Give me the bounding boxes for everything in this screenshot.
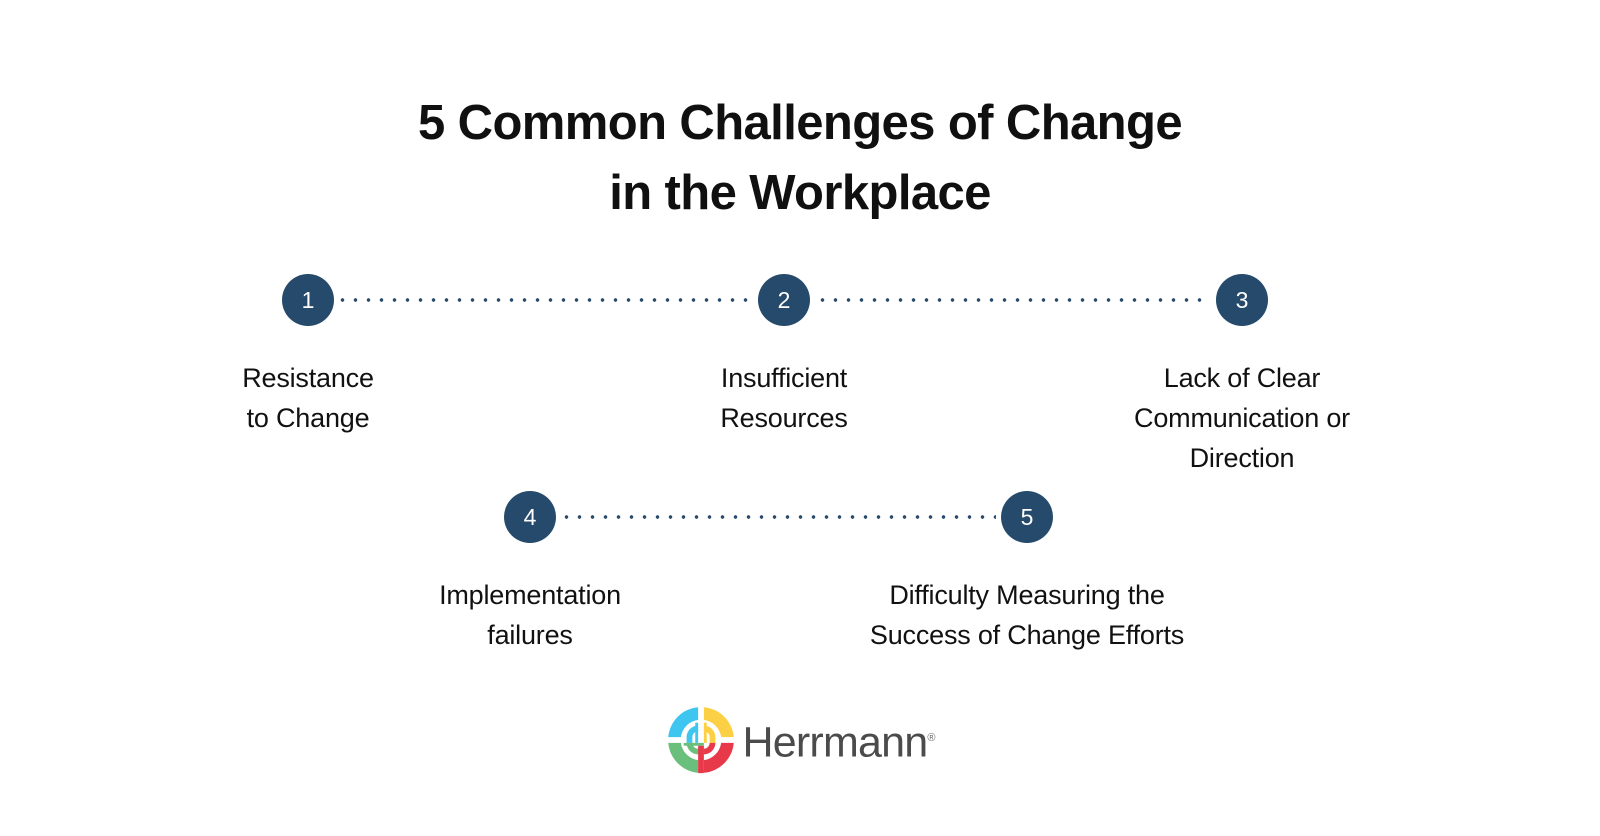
timeline-label-2-line-1: Insufficient	[584, 358, 984, 398]
timeline-label-3: Lack of Clear Communication or Direction	[1042, 358, 1442, 478]
timeline-node-1-number: 1	[302, 287, 315, 313]
timeline-node-5[interactable]: 5	[1001, 491, 1053, 543]
brand-logo: Herrmann®	[0, 700, 1600, 780]
logo-quadrant-top-right	[703, 707, 733, 743]
timeline-label-5-line-2: Success of Change Efforts	[777, 615, 1277, 655]
registered-trademark-icon: ®	[927, 732, 935, 744]
timeline-node-2-number: 2	[778, 287, 791, 313]
timeline-label-5-line-1: Difficulty Measuring the	[777, 575, 1277, 615]
timeline-label-2-line-2: Resources	[584, 398, 984, 438]
timeline-label-3-line-2: Communication or	[1042, 398, 1442, 438]
brand-wordmark: Herrmann®	[743, 714, 936, 766]
timeline-label-3-line-1: Lack of Clear	[1042, 358, 1442, 398]
timeline-label-2: Insufficient Resources	[584, 358, 984, 438]
brand-wordmark-text: Herrmann	[743, 718, 928, 766]
timeline-label-3-line-3: Direction	[1042, 438, 1442, 478]
herrmann-logo-icon	[665, 704, 737, 776]
timeline-node-3-number: 3	[1236, 287, 1249, 313]
connector-dotted-line-2-3	[816, 298, 1208, 302]
connector-dotted-line-4-5	[560, 515, 996, 519]
timeline-label-1-line-1: Resistance	[108, 358, 508, 398]
timeline-label-5: Difficulty Measuring the Success of Chan…	[777, 575, 1277, 655]
timeline-label-4-line-1: Implementation	[330, 575, 730, 615]
timeline-label-4: Implementation failures	[330, 575, 730, 655]
timeline-label-1-line-2: to Change	[108, 398, 508, 438]
timeline-node-5-number: 5	[1021, 504, 1034, 530]
timeline-node-3[interactable]: 3	[1216, 274, 1268, 326]
connector-dotted-line-1-2	[336, 298, 752, 302]
timeline-node-4[interactable]: 4	[504, 491, 556, 543]
timeline-label-4-line-2: failures	[330, 615, 730, 655]
timeline-node-2[interactable]: 2	[758, 274, 810, 326]
timeline-node-4-number: 4	[524, 504, 537, 530]
page-title-line-2: in the Workplace	[0, 158, 1600, 228]
page-title: 5 Common Challenges of Change in the Wor…	[0, 88, 1600, 228]
timeline-node-1[interactable]: 1	[282, 274, 334, 326]
timeline-label-1: Resistance to Change	[108, 358, 508, 438]
logo-quadrant-bottom-right	[698, 743, 734, 773]
logo-quadrant-top-left	[668, 707, 698, 743]
page-title-line-1: 5 Common Challenges of Change	[0, 88, 1600, 158]
